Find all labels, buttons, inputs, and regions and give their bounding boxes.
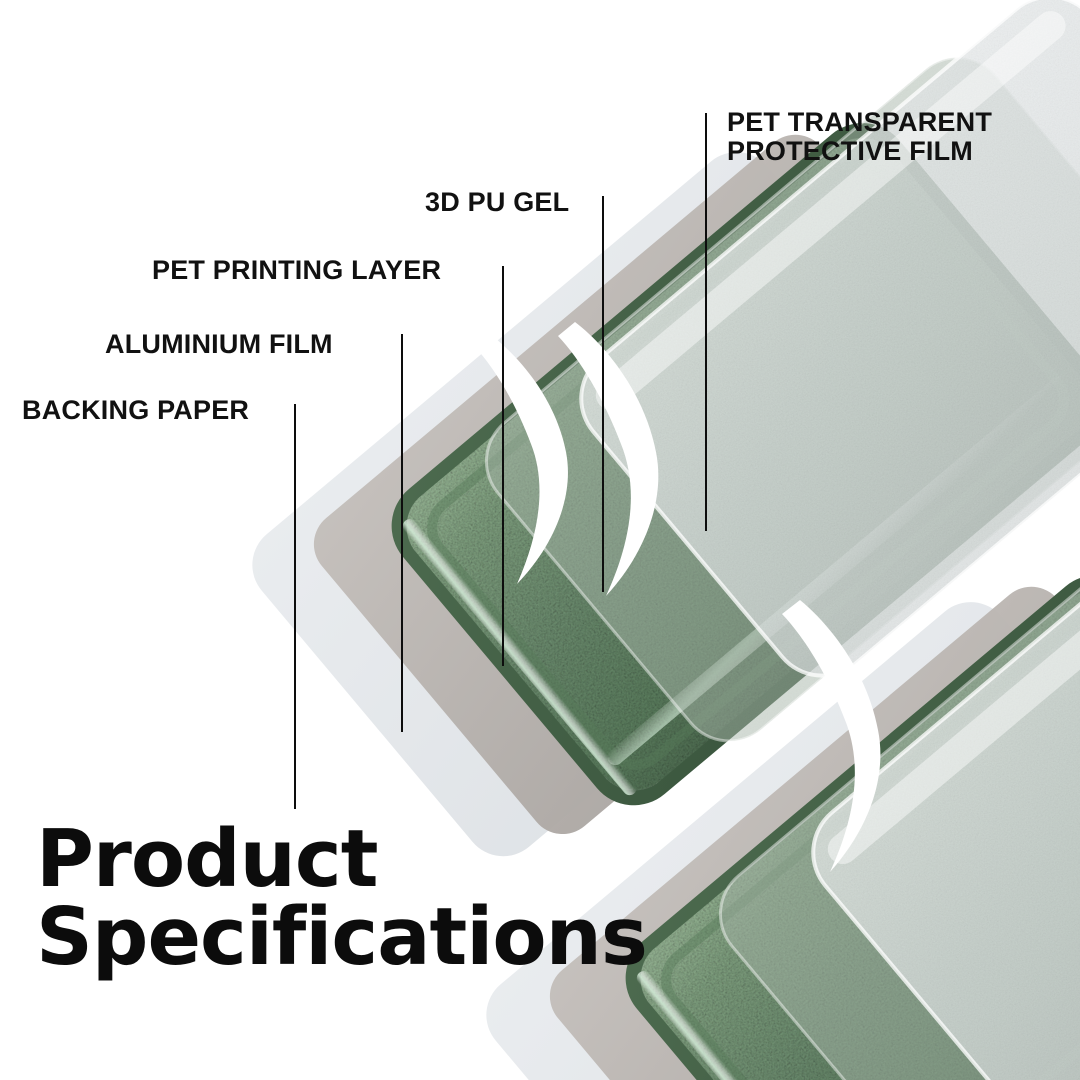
leader-line-aluminium-film: [401, 334, 403, 732]
callout-label-pet-printing-layer: PET PRINTING LAYER: [152, 256, 441, 285]
callout-label-3d-pu-gel: 3D PU GEL: [425, 188, 569, 217]
leader-line-3d-pu-gel: [602, 196, 604, 592]
page-title: Product Specifications: [36, 820, 647, 976]
product-specifications-infographic: BACKING PAPER ALUMINIUM FILM PET PRINTIN…: [0, 0, 1080, 1080]
callout-label-pet-transparent-protective-film: PET TRANSPARENT PROTECTIVE FILM: [727, 108, 992, 166]
leader-line-pet-transparent: [705, 113, 707, 531]
leader-line-pet-printing: [502, 266, 504, 666]
leader-line-backing-paper: [294, 404, 296, 809]
callout-label-aluminium-film: ALUMINIUM FILM: [105, 330, 333, 359]
callout-label-backing-paper: BACKING PAPER: [22, 396, 249, 425]
